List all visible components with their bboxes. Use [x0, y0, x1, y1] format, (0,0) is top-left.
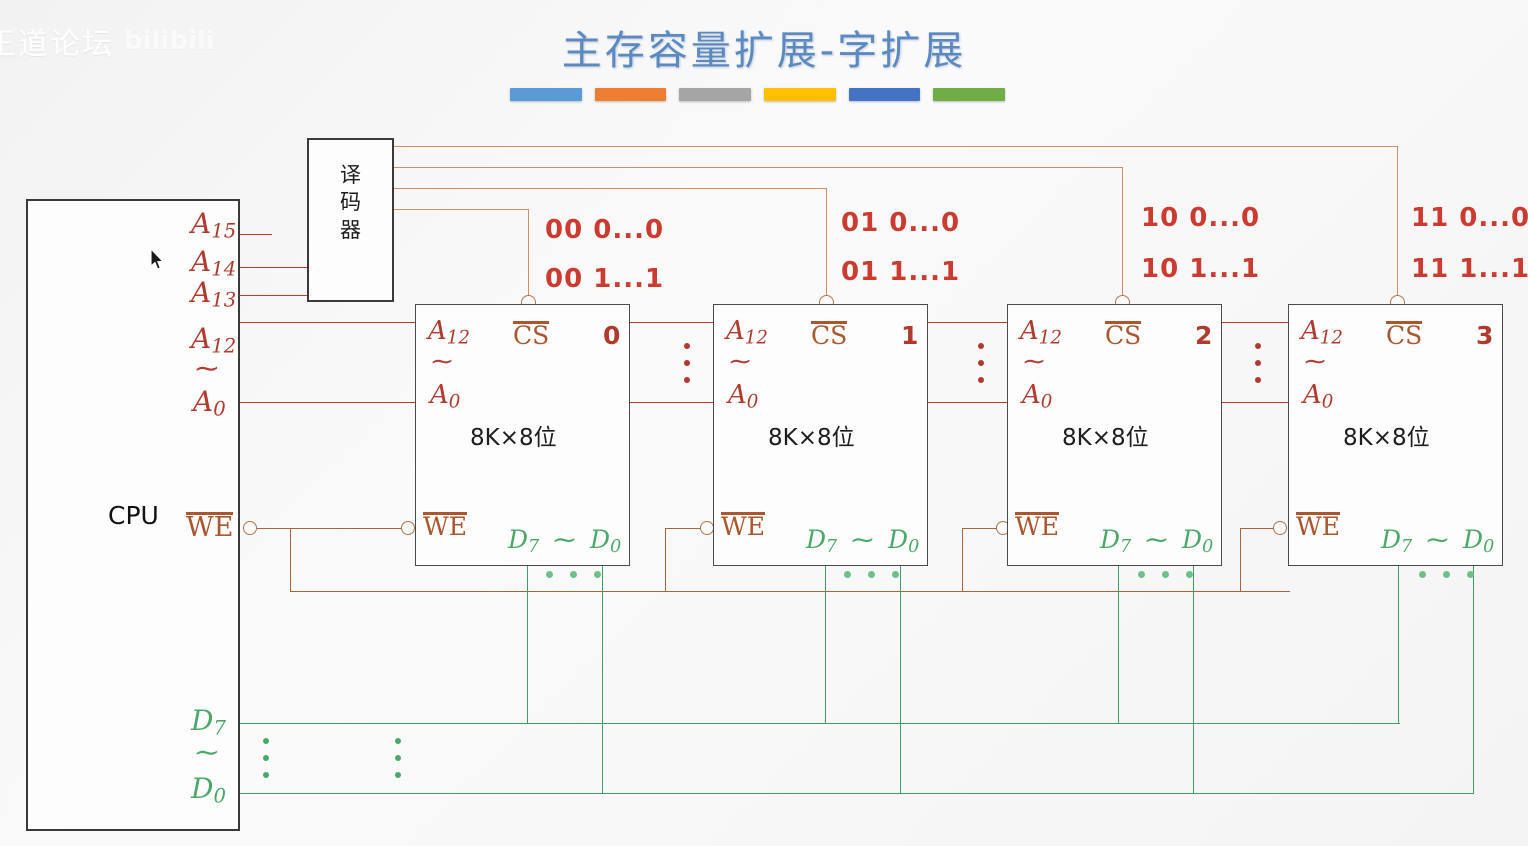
- chip1-addr-tilde: ∼: [727, 349, 752, 373]
- chip0-data-label: D7 ∼ D0: [508, 527, 621, 557]
- we-bubble-cpu: [243, 521, 257, 535]
- chip0-addr-lo: A0: [430, 382, 460, 412]
- chip0-we-label: WE: [423, 514, 467, 540]
- cpu-pin-a14: A14: [191, 248, 236, 279]
- wire-data-chip3-d7: [1398, 566, 1399, 724]
- we-bubble-chip3: [1273, 521, 1287, 535]
- decoder-char-2: 码: [309, 189, 392, 216]
- wire-cs3-vertical: [1397, 146, 1398, 298]
- cpu-pin-d0: D0: [191, 775, 226, 806]
- addr-dots-gap-0: [684, 343, 690, 383]
- page-title: 主存容量扩展-字扩展: [0, 18, 1528, 76]
- chip1-cs-label: CS: [811, 323, 847, 349]
- chip1-index: 1: [901, 323, 918, 348]
- chip0-index: 0: [603, 323, 620, 348]
- chip0-capacity: 8K×8位: [470, 427, 557, 450]
- addr-range-0-end: 00 1...1: [545, 266, 664, 292]
- decoder-char-3: 器: [309, 217, 392, 244]
- chip2-we-label: WE: [1015, 514, 1059, 540]
- chip2-capacity: 8K×8位: [1062, 427, 1149, 450]
- chip0-cs-label: CS: [513, 323, 549, 349]
- title-bar-gray: [679, 88, 751, 101]
- wire-data-chip1-d0: [900, 566, 901, 794]
- chip2-index: 2: [1195, 323, 1212, 348]
- cpu-pin-a0: A0: [193, 388, 226, 419]
- cpu-pin-a15: A15: [191, 210, 236, 241]
- title-bar-navy: [849, 88, 921, 101]
- wire-we-cpu-to-chip0: [257, 528, 405, 529]
- chip3-addr-tilde: ∼: [1302, 349, 1327, 373]
- wire-cs3-horizontal: [394, 146, 1397, 147]
- decoder-box: 译 码 器: [307, 138, 394, 302]
- wire-cs0-horizontal: [394, 209, 528, 210]
- chip2-addr-tilde: ∼: [1021, 349, 1046, 373]
- wire-we-riser-chip3: [1240, 528, 1241, 591]
- title-bar-blue: [510, 88, 582, 101]
- chip0-addr-hi: A12: [428, 318, 470, 348]
- chip3-capacity: 8K×8位: [1343, 427, 1430, 450]
- wire-we-branch-chip1: [665, 528, 705, 529]
- addr-range-3-start: 11 0...0: [1411, 205, 1528, 231]
- chip3-data-dots: [1419, 571, 1474, 578]
- wire-we-riser-chip1: [665, 528, 666, 591]
- title-bar-orange: [595, 88, 667, 101]
- wire-d7-rail: [240, 723, 1400, 724]
- addr-range-1-start: 01 0...0: [841, 210, 960, 236]
- chip2-data-label: D7 ∼ D0: [1100, 527, 1213, 557]
- chip3-addr-lo: A0: [1303, 382, 1333, 412]
- slide-canvas: 王道论坛 bilibili 主存容量扩展-字扩展: [0, 0, 1528, 846]
- addr-range-1-end: 01 1...1: [841, 259, 960, 285]
- wire-cs2-vertical: [1122, 167, 1123, 298]
- wire-cs2-horizontal: [394, 167, 1122, 168]
- wire-we-riser-chip2: [962, 528, 963, 591]
- chip1-data-dots: [844, 571, 899, 578]
- decoder-char-1: 译: [309, 162, 392, 189]
- cpu-pin-a12: A12: [191, 325, 236, 356]
- wire-data-chip2-d0: [1193, 566, 1194, 794]
- cpu-pin-d7: D7: [191, 707, 226, 738]
- decoder-label: 译 码 器: [309, 162, 392, 244]
- we-bubble-chip0: [401, 521, 415, 535]
- chip0-data-dots: [546, 571, 601, 578]
- wire-data-chip1-d7: [825, 566, 826, 724]
- chip2-addr-lo: A0: [1022, 382, 1052, 412]
- chip1-we-label: WE: [721, 514, 765, 540]
- chip3-data-label: D7 ∼ D0: [1381, 527, 1494, 557]
- we-bubble-chip1: [700, 521, 714, 535]
- wire-cs1-vertical: [826, 188, 827, 298]
- cpu-label: CPU: [108, 503, 159, 528]
- chip3-we-label: WE: [1296, 514, 1340, 540]
- addr-range-2-start: 10 0...0: [1141, 205, 1260, 231]
- wire-cs0-vertical: [528, 209, 529, 298]
- cpu-pin-addr-tilde: ∼: [193, 356, 220, 382]
- chip3-cs-label: CS: [1386, 323, 1422, 349]
- wire-a15-stub: [240, 234, 272, 235]
- chip1-addr-hi: A12: [726, 318, 768, 348]
- chip2-addr-hi: A12: [1020, 318, 1062, 348]
- chip0-addr-tilde: ∼: [429, 349, 454, 373]
- chip1-data-label: D7 ∼ D0: [806, 527, 919, 557]
- addr-range-0-start: 00 0...0: [545, 217, 664, 243]
- title-bar-green: [933, 88, 1005, 101]
- wire-we-branch-chip3: [1240, 528, 1276, 529]
- chip2-data-dots: [1138, 571, 1193, 578]
- wire-data-chip0-d0: [602, 566, 603, 794]
- wire-a14-to-decoder: [240, 267, 307, 268]
- wire-we-branch-chip2: [962, 528, 999, 529]
- chip1-addr-lo: A0: [728, 382, 758, 412]
- addr-range-2-end: 10 1...1: [1141, 256, 1260, 282]
- wire-d0-rail-ext: [1398, 793, 1474, 794]
- wire-d0-rail: [240, 793, 1400, 794]
- addr-dots-gap-2: [1255, 343, 1261, 383]
- wire-a13-to-decoder: [240, 295, 307, 296]
- mouse-cursor-icon: [150, 248, 165, 271]
- cpu-pin-a13: A13: [191, 279, 236, 310]
- chip2-cs-label: CS: [1105, 323, 1141, 349]
- chip3-addr-hi: A12: [1301, 318, 1343, 348]
- chip3-index: 3: [1476, 323, 1493, 348]
- wire-we-drop: [290, 528, 291, 591]
- wire-we-bus: [290, 591, 1290, 592]
- cpu-pin-we: WE: [186, 514, 233, 541]
- cpu-pin-data-tilde: ∼: [193, 740, 220, 766]
- wire-data-chip0-d7: [527, 566, 528, 724]
- addr-range-3-end: 11 1...1: [1411, 256, 1528, 282]
- wire-cs1-horizontal: [394, 188, 826, 189]
- wire-data-chip2-d7: [1118, 566, 1119, 724]
- wire-data-chip3-d0: [1473, 566, 1474, 794]
- cpu-data-dots-left: [263, 738, 269, 778]
- title-bar-yellow: [764, 88, 836, 101]
- addr-dots-gap-1: [978, 343, 984, 383]
- cpu-data-dots-right: [395, 738, 401, 778]
- chip1-capacity: 8K×8位: [768, 427, 855, 450]
- title-accent-bars: [510, 88, 1005, 101]
